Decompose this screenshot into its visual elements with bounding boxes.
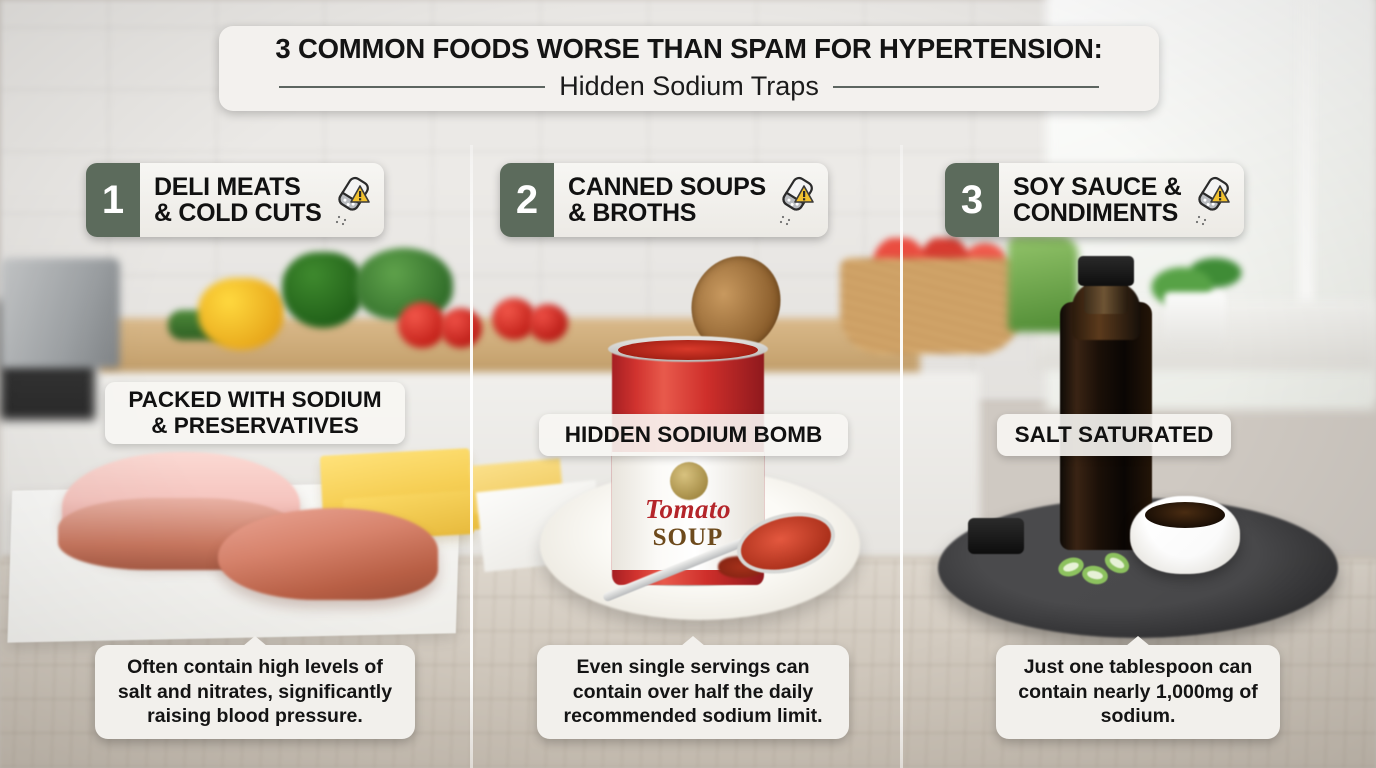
soup-surface [618, 340, 758, 360]
column-title-1: DELI MEATS & COLD CUTS [154, 174, 322, 226]
wicker-basket [840, 258, 1020, 354]
salt-shaker-warning-icon [772, 174, 818, 226]
column-header-plate-2: CANNED SOUPS & BROTHS [554, 163, 828, 237]
tomato [398, 302, 446, 348]
column-header-1: 1 DELI MEATS & COLD CUTS [86, 163, 384, 237]
column-divider-2 [900, 145, 903, 768]
deli-ham-fanned-slices [218, 508, 438, 600]
column-number-badge-1: 1 [86, 163, 140, 237]
column-header-plate-3: SOY SAUCE & CONDIMENTS [999, 163, 1244, 237]
soup-can-label-line1: Tomato [612, 494, 764, 525]
column-title-2: CANNED SOUPS & BROTHS [568, 174, 766, 226]
column-header-2: 2 CANNED SOUPS & BROTHS [500, 163, 828, 237]
green-bell-pepper [282, 252, 364, 328]
caption-1: Often contain high levels of salt and ni… [95, 645, 415, 739]
cooking-pot [0, 258, 120, 368]
yellow-bell-pepper [198, 278, 284, 350]
salt-shaker-warning-icon [1188, 174, 1234, 226]
page-title: 3 COMMON FOODS WORSE THAN SPAM FOR HYPER… [275, 35, 1102, 63]
column-header-plate-1: DELI MEATS & COLD CUTS [140, 163, 384, 237]
caption-3: Just one tablespoon can contain nearly 1… [996, 645, 1280, 739]
infographic-canvas: Tomato SOUP 3 COMMON FOODS WORSE THAN SP… [0, 0, 1376, 768]
soy-sauce-liquid [1145, 502, 1225, 528]
caption-2: Even single servings can contain over ha… [537, 645, 849, 739]
page-subtitle: Hidden Sodium Traps [559, 71, 819, 102]
column-number-badge-3: 3 [945, 163, 999, 237]
potted-plant-pot [1164, 292, 1226, 348]
tomato [528, 304, 568, 342]
window-frame [1298, 0, 1314, 330]
title-banner: 3 COMMON FOODS WORSE THAN SPAM FOR HYPER… [219, 26, 1159, 111]
soy-sauce-cap-removed [968, 518, 1024, 554]
tomato [440, 308, 482, 348]
rule-right [833, 86, 1099, 88]
subtitle-row: Hidden Sodium Traps [279, 71, 1099, 102]
rule-left [279, 86, 545, 88]
mid-banner-3: SALT SATURATED [997, 414, 1231, 456]
column-number-badge-2: 2 [500, 163, 554, 237]
soy-sauce-bottle-cap [1078, 256, 1134, 286]
column-header-3: 3 SOY SAUCE & CONDIMENTS [945, 163, 1244, 237]
column-divider-1 [470, 145, 473, 768]
mid-banner-1: PACKED WITH SODIUM & PRESERVATIVES [105, 382, 405, 444]
column-title-3: SOY SAUCE & CONDIMENTS [1013, 174, 1182, 226]
mid-banner-2: HIDDEN SODIUM BOMB [539, 414, 848, 456]
salt-shaker-warning-icon [328, 174, 374, 226]
